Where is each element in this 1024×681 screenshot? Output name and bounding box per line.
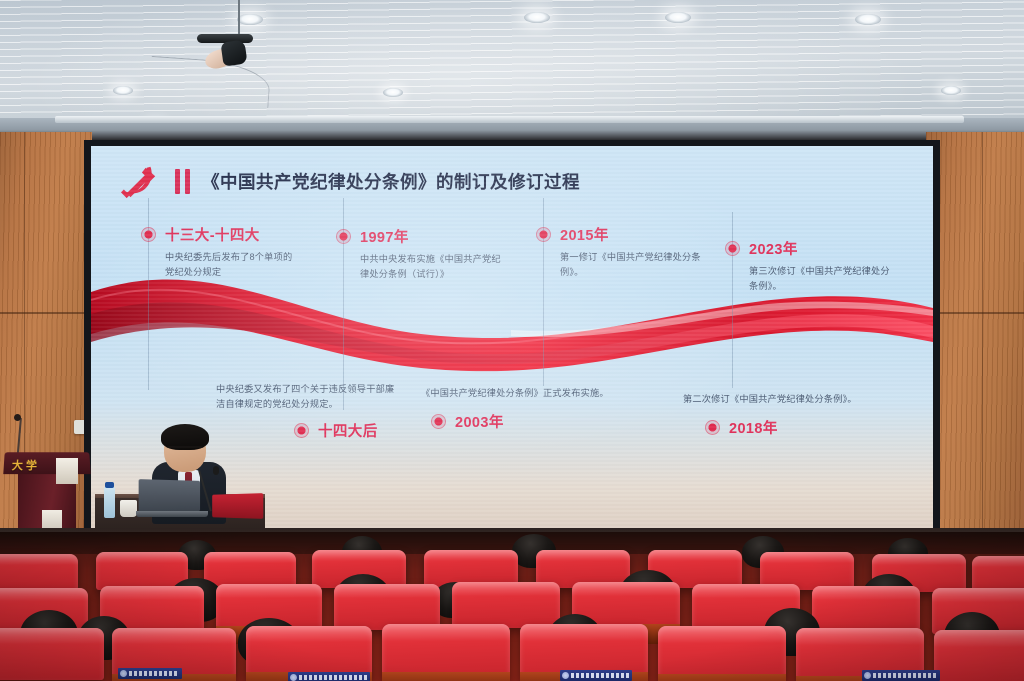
laptop-screen	[139, 479, 200, 513]
timeline-description: 第三次修订《中国共产党纪律处分条例》。	[749, 264, 897, 294]
ceiling-downlight	[113, 86, 133, 95]
timeline-description: 第一修订《中国共产党纪律处分条例》。	[560, 250, 702, 280]
ceiling-downlight	[665, 12, 691, 23]
timeline-entry: 2023年 第三次修订《中国共产党纪律处分条例》。	[725, 238, 901, 294]
timeline-dot-icon	[336, 229, 351, 244]
timeline-marker-row: 十四大后	[294, 420, 416, 441]
timeline-entry: 《中国共产党纪律处分条例》正式发布实施。 2003年	[421, 386, 651, 432]
ceiling-downlight	[941, 86, 961, 95]
timeline-dot-icon	[294, 423, 309, 438]
timeline-marker-row: 十三大-十四大	[141, 224, 301, 245]
ceiling	[0, 0, 1024, 140]
timeline-label: 2018年	[729, 417, 778, 438]
audience-seat	[812, 586, 920, 632]
laptop-keyboard	[136, 511, 208, 517]
mug	[120, 500, 137, 517]
timeline-description: 第二次修订《中国共产党纪律处分条例》。	[683, 392, 911, 407]
seat-badge	[118, 668, 182, 679]
timeline-marker-row: 2003年	[431, 411, 651, 432]
timeline-description: 中央纪委又发布了四个关于违反领导干部廉洁自律规定的党纪处分规定。	[216, 382, 402, 412]
wood-grain-texture	[926, 132, 1024, 552]
ceiling-downlight	[237, 14, 263, 25]
timeline-entry: 1997年 中共中央发布实施《中国共产党纪律处分条例（试行）》	[336, 226, 512, 282]
title-accent-bars	[175, 169, 190, 194]
audience-seat	[0, 554, 78, 590]
timeline-label: 1997年	[360, 226, 409, 247]
wall-seam	[926, 312, 1024, 314]
audience-seat	[0, 628, 104, 680]
lectern-inscription: 大学	[11, 457, 40, 473]
timeline-entry: 第二次修订《中国共产党纪律处分条例》。 2018年	[683, 392, 923, 438]
slide-header: 《中国共产党纪律处分条例》的制订及修订过程	[119, 162, 580, 200]
red-nameplate	[212, 493, 263, 519]
timeline-label: 2003年	[455, 411, 504, 432]
speaker-glasses	[167, 446, 203, 453]
hammer-and-sickle-icon	[119, 162, 161, 200]
projector-body	[220, 39, 247, 66]
wall-panel-right	[926, 132, 1024, 552]
ceiling-downlight	[524, 12, 550, 23]
audience-seat	[452, 582, 560, 628]
timeline-entry: 十三大-十四大 中央纪委先后发布了8个单项的党纪处分规定	[141, 224, 301, 280]
timeline-marker-row: 2015年	[536, 224, 706, 245]
water-bottle-cap	[105, 482, 114, 488]
seat-badge	[862, 670, 940, 681]
timeline-label: 十四大后	[318, 420, 378, 441]
timeline-entry: 2015年 第一修订《中国共产党纪律处分条例》。	[536, 224, 706, 280]
timeline-marker-row: 1997年	[336, 226, 512, 247]
projector-mount-rod	[238, 0, 240, 34]
desk-microphone-head	[213, 466, 219, 475]
timeline-marker-row: 2018年	[705, 417, 923, 438]
timeline-dot-icon	[705, 420, 720, 435]
seat-wood-trim	[658, 674, 786, 681]
wall-seam	[0, 312, 92, 314]
timeline-description: 中共中央发布实施《中国共产党纪律处分条例（试行）》	[360, 252, 510, 282]
timeline-entry: 中央纪委又发布了四个关于违反领导干部廉洁自律规定的党纪处分规定。 十四大后	[216, 382, 416, 441]
seat-badge	[560, 670, 632, 681]
wall-seam	[982, 132, 983, 552]
timeline-dot-icon	[536, 227, 551, 242]
timeline-label: 2023年	[749, 238, 798, 259]
timeline-dot-icon	[725, 241, 740, 256]
lectern-microphone-head	[14, 414, 21, 421]
seat-wood-trim	[382, 672, 510, 681]
ceiling-downlight	[383, 88, 403, 97]
seat-badge	[288, 672, 370, 681]
audience-seat	[658, 626, 786, 681]
audience-seat	[934, 630, 1024, 681]
timeline-dot-icon	[141, 227, 156, 242]
lectern-panel	[56, 458, 78, 484]
timeline-description: 中央纪委先后发布了8个单项的党纪处分规定	[165, 250, 295, 280]
timeline-marker-row: 2023年	[725, 238, 901, 259]
timeline-dot-icon	[431, 414, 446, 429]
audience-seating	[0, 532, 1024, 681]
slide-title: 《中国共产党纪律处分条例》的制订及修订过程	[202, 169, 580, 194]
ceiling-valance	[55, 116, 964, 123]
lecture-hall-scene: 《中国共产党纪律处分条例》的制订及修订过程 十三大-十四大 中央纪委先后发布了8…	[0, 0, 1024, 681]
timeline-label: 十三大-十四大	[165, 224, 260, 245]
ceiling-downlight	[855, 14, 881, 25]
timeline-description: 《中国共产党纪律处分条例》正式发布实施。	[421, 386, 639, 401]
timeline-label: 2015年	[560, 224, 609, 245]
water-bottle	[104, 486, 115, 518]
